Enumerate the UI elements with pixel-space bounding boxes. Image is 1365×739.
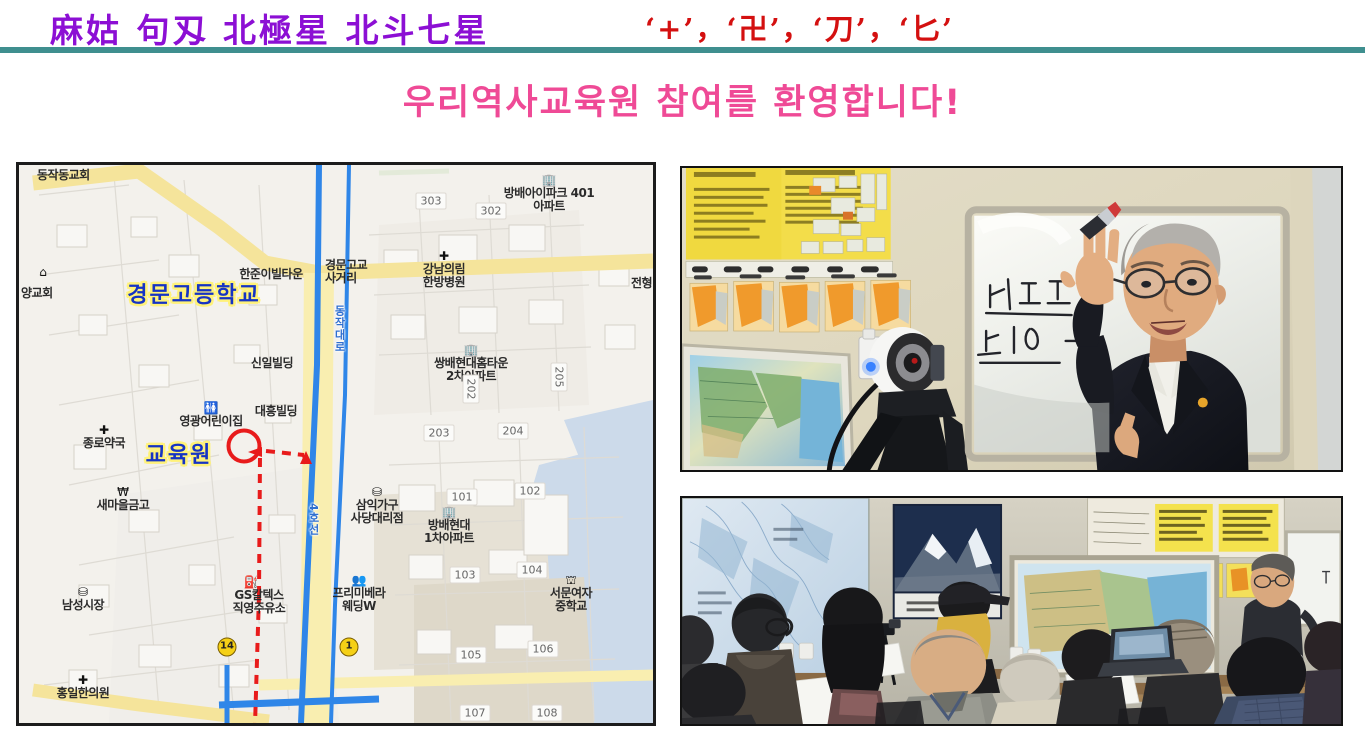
building-number: 105: [456, 647, 487, 664]
gas-station-icon: ⛽: [244, 575, 259, 589]
bank-icon: ₩: [117, 485, 129, 499]
building-number: 205: [551, 363, 568, 392]
map-label: 서문여자 중학교: [550, 587, 592, 614]
classroom-photo[interactable]: [680, 496, 1343, 726]
building-number: 204: [498, 423, 529, 440]
market-icon: ⛁: [78, 585, 88, 599]
apartment-icon: 🏢: [542, 173, 557, 187]
clinic-icon: ✚: [78, 673, 88, 687]
building-number: 202: [463, 375, 480, 404]
apartment-icon: 🏢: [464, 343, 479, 357]
map-label: 양교회: [21, 287, 53, 300]
lecturer-photo[interactable]: [680, 166, 1343, 472]
apartment-icon: 🏢: [442, 505, 457, 519]
map-academy-highlight: 교육원: [146, 437, 213, 469]
church-icon: ⌂: [39, 265, 47, 279]
map-label: 강남의림 한방병원: [423, 263, 465, 290]
header-left-title: 麻姑 句刄 北極星 北斗七星: [50, 4, 489, 52]
map-label: 경문고교 사거리: [325, 259, 367, 286]
street-label: 4호선: [305, 503, 321, 536]
kindergarten-icon: 🚻: [204, 401, 219, 415]
destination-marker-circle: [227, 429, 262, 464]
building-number: 302: [476, 203, 507, 220]
header-right-title: ‘+’，‘卍’，‘刀’，‘匕’: [645, 6, 954, 48]
classroom-photo-graphic: [682, 498, 1341, 726]
building-number: 303: [416, 193, 447, 210]
map-label: 홍일한의원: [57, 687, 110, 700]
furniture-icon: ⛁: [372, 485, 382, 499]
highway-marker: 1: [340, 638, 359, 657]
map-label: 대흥빌딩: [255, 405, 297, 418]
map-label: 영광어린이집: [179, 415, 242, 428]
map-label: 신일빌딩: [251, 357, 293, 370]
building-number: 102: [515, 483, 546, 500]
map-school-highlight: 경문고등학교: [127, 277, 260, 309]
building-number: 107: [460, 705, 491, 722]
building-number: 106: [528, 641, 559, 658]
map-label: 방배아이파크 401 아파트: [504, 187, 594, 214]
header-divider: [0, 47, 1365, 53]
map-label: 방배현대 1차아파트: [424, 519, 474, 546]
building-number: 103: [450, 567, 481, 584]
map-label: 동작동교회: [37, 169, 90, 182]
map-label: 전형: [631, 277, 652, 290]
welcome-subtitle: 우리역사교육원 참여를 환영합니다!: [0, 74, 1365, 125]
pharmacy-icon: ✚: [99, 423, 109, 437]
location-map[interactable]: 동작동교회 양교회 ⌂ ✚ 종로약국 ₩ 새마을금고 ⛁ 남성시장 ✚ 홍일한의…: [16, 162, 656, 726]
building-number: 203: [424, 425, 455, 442]
lecturer-photo-graphic: [682, 168, 1341, 472]
map-label: 새마을금고: [97, 499, 150, 512]
building-number: 104: [517, 562, 548, 579]
slide-header: 麻姑 句刄 北極星 北斗七星 ‘+’，‘卍’，‘刀’，‘匕’: [0, 0, 1365, 54]
street-label: 동작대로: [331, 305, 347, 353]
building-number: 108: [532, 705, 563, 722]
highway-marker: 14: [218, 638, 237, 657]
map-label: 삼익가구 사당대리점: [351, 499, 404, 526]
map-label: 남성시장: [62, 599, 104, 612]
map-label: 프리미베라 웨딩W: [333, 587, 386, 614]
building-number: 101: [447, 489, 478, 506]
wedding-hall-icon: 👥: [352, 573, 367, 587]
map-label: 종로약국: [83, 437, 125, 450]
hospital-icon: ✚: [439, 249, 449, 263]
map-label: GS칼텍스 직영주유소: [233, 589, 286, 616]
